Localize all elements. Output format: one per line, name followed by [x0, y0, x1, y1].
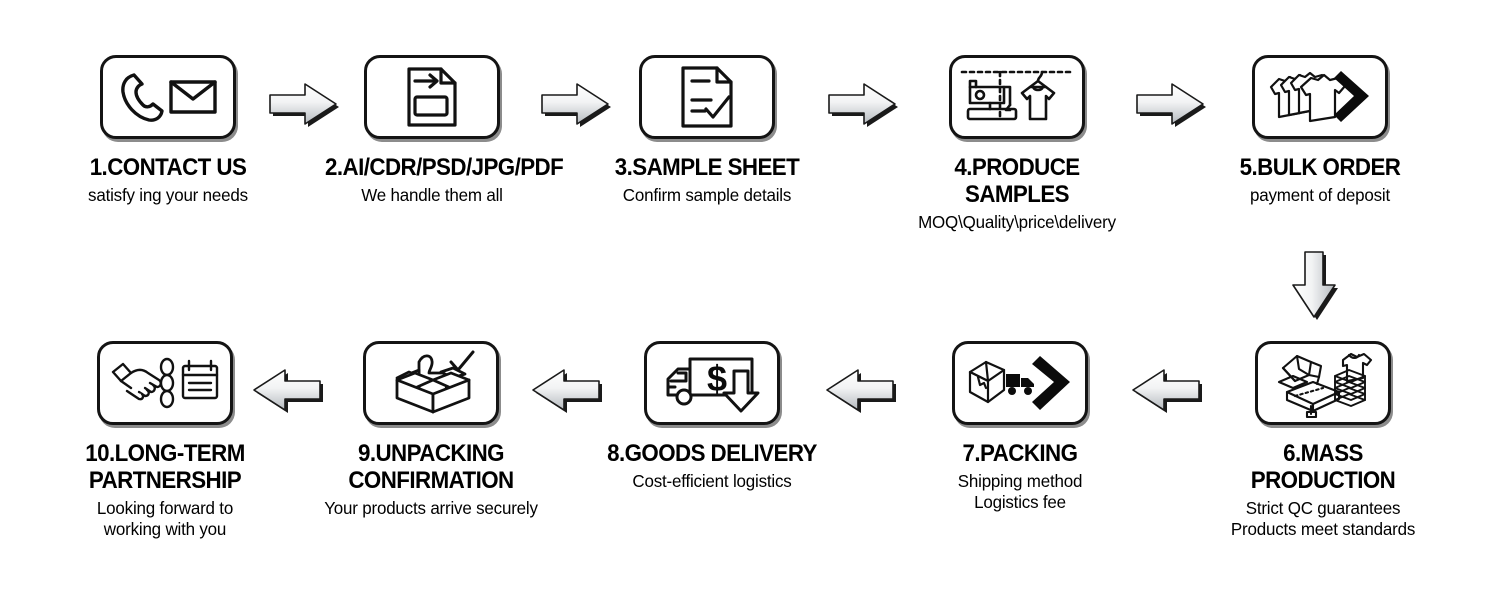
step-subtitle: Cost-efficient logistics	[600, 471, 823, 492]
step-contact-us[interactable]: 1.CONTACT US satisfy ing your needs	[53, 55, 283, 206]
step-icon-box[interactable]	[1255, 341, 1391, 425]
connector-arrow-2-3	[535, 78, 615, 135]
file-import-icon	[401, 65, 463, 129]
tshirt-stack-chevron-icon	[1265, 65, 1375, 129]
step-icon-box[interactable]	[100, 55, 236, 139]
step-icon-box[interactable]	[363, 341, 499, 425]
step-title: 7.PACKING	[913, 441, 1127, 468]
document-check-icon	[675, 64, 739, 130]
step-icon-box[interactable]	[364, 55, 500, 139]
step-subtitle: MOQ\Quality\price\delivery	[905, 212, 1128, 233]
step-mass-production[interactable]: 6.MASS PRODUCTION Strict QC guarantees P…	[1208, 341, 1438, 540]
step-sample-sheet[interactable]: 3.SAMPLE SHEET Confirm sample details	[592, 55, 822, 206]
connector-arrow-6-7	[1124, 364, 1206, 421]
box-truck-chevron-icon	[964, 352, 1076, 414]
step-subtitle: Strict QC guarantees Products meet stand…	[1211, 498, 1434, 540]
step-title: 9.UNPACKING CONFIRMATION	[324, 441, 538, 495]
connector-arrow-7-8	[818, 364, 900, 421]
process-flow-diagram: 1.CONTACT US satisfy ing your needs 2.AI…	[0, 0, 1500, 600]
step-icon-box[interactable]: $	[644, 341, 780, 425]
step-goods-delivery[interactable]: $ 8.GOODS DELIVERY Cost-efficient logist…	[597, 341, 827, 492]
step-icon-box[interactable]	[949, 55, 1085, 139]
step-packing[interactable]: 7.PACKING Shipping method Logistics fee	[905, 341, 1135, 513]
connector-arrow-3-4	[822, 78, 902, 135]
handshake-chain-calendar-icon	[109, 352, 221, 414]
step-subtitle: satisfy ing your needs	[56, 185, 279, 206]
step-title: 3.SAMPLE SHEET	[600, 155, 814, 182]
step-subtitle: Shipping method Logistics fee	[908, 471, 1131, 513]
step-title: 10.LONG-TERM PARTNERSHIP	[58, 441, 272, 495]
step-subtitle: We handle them all	[320, 185, 543, 206]
step-subtitle: Confirm sample details	[595, 185, 818, 206]
step-icon-box[interactable]	[1252, 55, 1388, 139]
step-subtitle: payment of deposit	[1208, 185, 1431, 206]
sewing-machine-tshirt-icon	[960, 65, 1074, 129]
connector-arrow-1-2	[263, 78, 343, 135]
step-title: 4.PRODUCE SAMPLES	[910, 155, 1124, 209]
step-bulk-order[interactable]: 5.BULK ORDER payment of deposit	[1205, 55, 1435, 206]
step-file-formats[interactable]: 2.AI/CDR/PSD/JPG/PDF We handle them all	[317, 55, 547, 206]
step-title: 5.BULK ORDER	[1213, 155, 1427, 182]
step-produce-samples[interactable]: 4.PRODUCE SAMPLES MOQ\Quality\price\deli…	[902, 55, 1132, 233]
open-box-thumbsup-icon	[379, 350, 483, 416]
connector-arrow-4-5	[1130, 78, 1210, 135]
step-icon-box[interactable]	[97, 341, 233, 425]
connector-arrow-9-10	[245, 364, 327, 421]
step-title: 8.GOODS DELIVERY	[605, 441, 819, 468]
step-unpacking-confirmation[interactable]: 9.UNPACKING CONFIRMATION Your products a…	[316, 341, 546, 519]
step-subtitle: Looking forward to working with you	[53, 498, 276, 540]
step-icon-box[interactable]	[952, 341, 1088, 425]
step-subtitle: Your products arrive securely	[319, 498, 542, 519]
phone-envelope-icon	[114, 67, 222, 127]
connector-arrow-8-9	[524, 364, 606, 421]
step-icon-box[interactable]	[639, 55, 775, 139]
step-title: 1.CONTACT US	[61, 155, 275, 182]
conveyor-production-icon	[1269, 348, 1377, 418]
step-title: 2.AI/CDR/PSD/JPG/PDF	[325, 155, 539, 182]
step-title: 6.MASS PRODUCTION	[1216, 441, 1430, 495]
connector-arrow-5-6	[1285, 247, 1347, 330]
delivery-truck-dollar-icon: $	[660, 351, 764, 415]
